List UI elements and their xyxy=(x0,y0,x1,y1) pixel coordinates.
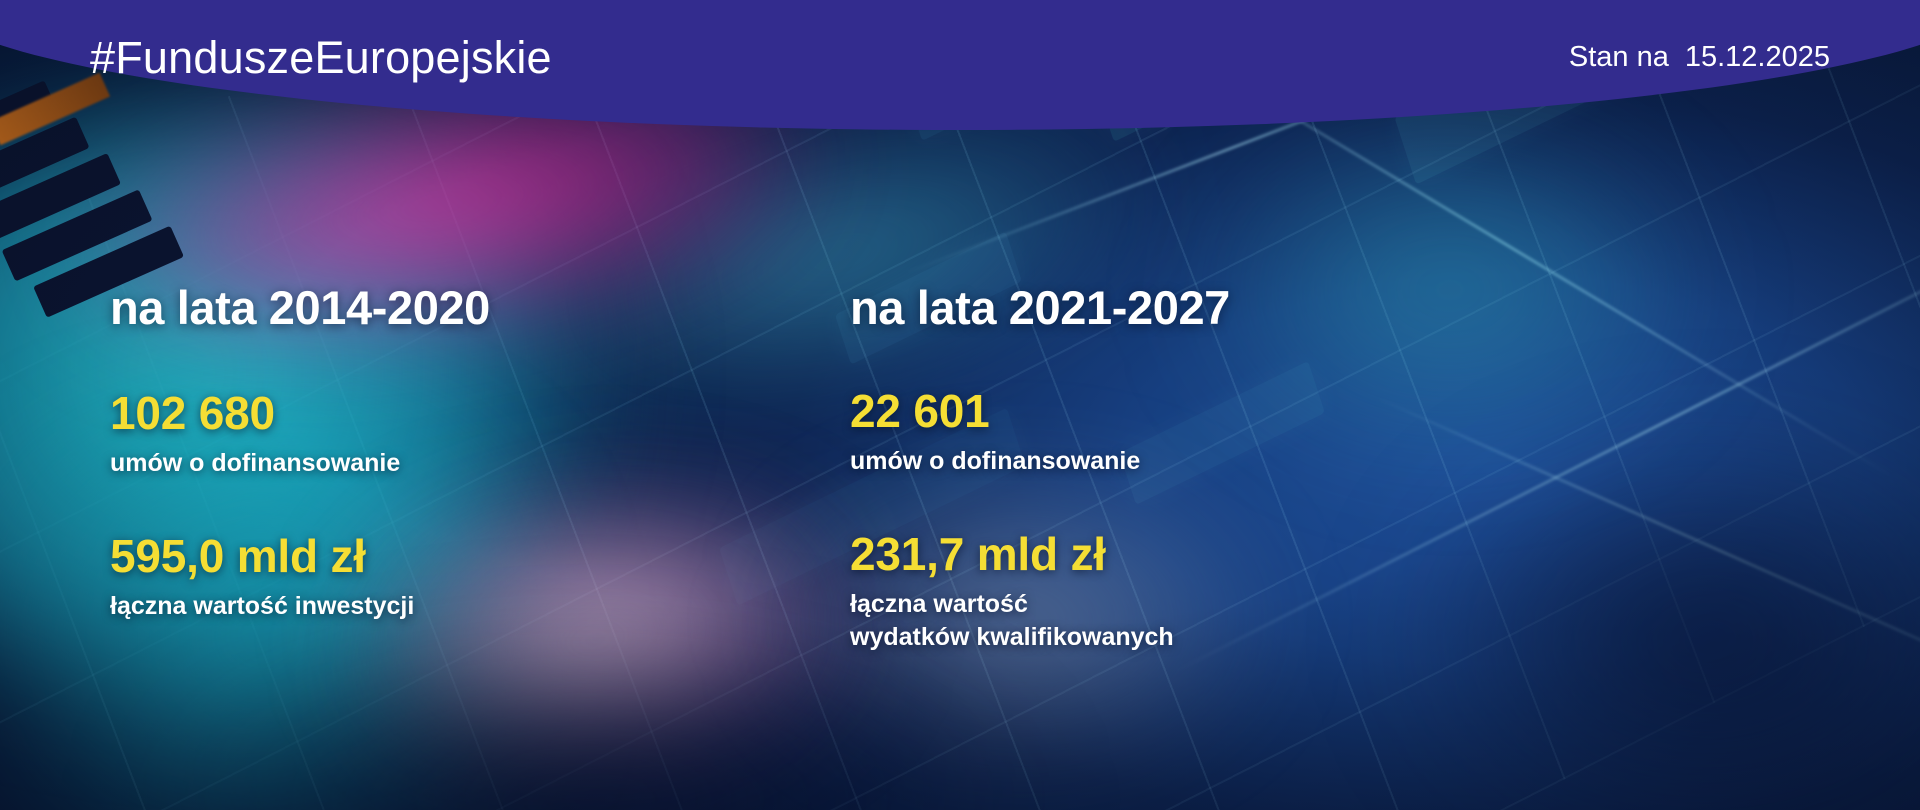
stats-column-2021-2027: na lata 2021-2027 22 601 umów o dofinans… xyxy=(850,280,1450,654)
metric-contracts: 102 680 umów o dofinansowanie xyxy=(110,389,710,480)
metric-label: umów o dofinansowanie xyxy=(850,445,1450,478)
column-heading: na lata 2021-2027 xyxy=(850,280,1450,335)
metric-value: 231,7 mld zł xyxy=(850,530,1450,579)
stats-column-2014-2020: na lata 2014-2020 102 680 umów o dofinan… xyxy=(110,280,710,654)
metric-label: łączna wartość inwestycji xyxy=(110,590,710,623)
stats-columns: na lata 2014-2020 102 680 umów o dofinan… xyxy=(0,280,1920,654)
status-date: 15.12.2025 xyxy=(1685,41,1830,74)
metric-label: umów o dofinansowanie xyxy=(110,447,710,480)
metric-contracts: 22 601 umów o dofinansowanie xyxy=(850,387,1450,478)
metric-eligible-expenditure: 231,7 mld zł łączna wartość wydatków kwa… xyxy=(850,530,1450,654)
metric-label: łączna wartość wydatków kwalifikowanych xyxy=(850,588,1450,654)
status-line: Stan na 15.12.2025 xyxy=(1569,41,1830,74)
metric-value: 22 601 xyxy=(850,387,1450,436)
metric-investment-value: 595,0 mld zł łączna wartość inwestycji xyxy=(110,532,710,623)
metric-value: 102 680 xyxy=(110,389,710,438)
metric-value: 595,0 mld zł xyxy=(110,532,710,581)
header: #FunduszeEuropejskie Stan na 15.12.2025 xyxy=(0,0,1920,115)
column-heading: na lata 2014-2020 xyxy=(110,280,710,335)
infographic-banner: #FunduszeEuropejskie Stan na 15.12.2025 … xyxy=(0,0,1920,810)
brand-hashtag: #FunduszeEuropejskie xyxy=(90,32,552,84)
status-label: Stan na xyxy=(1569,41,1669,74)
